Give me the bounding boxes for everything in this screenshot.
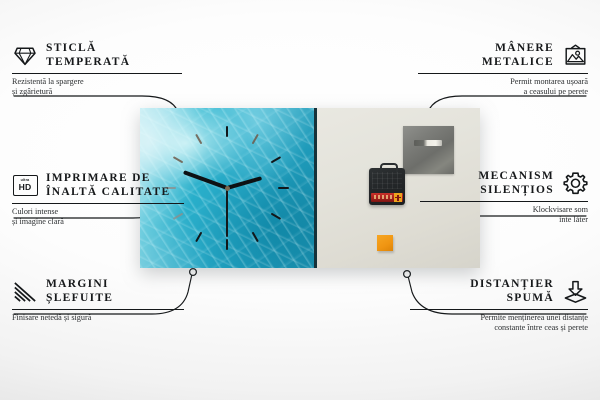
callout-handles: MÂNERE METALICE Permit montarea ușoară a… bbox=[418, 42, 588, 97]
hour-marker bbox=[226, 239, 228, 250]
hands-center-cap bbox=[225, 186, 230, 191]
callout-mechanism-subtitle: Klockvisare som inte låter bbox=[420, 205, 588, 225]
picture-hanger-icon bbox=[562, 43, 588, 69]
polished-edges-icon bbox=[12, 279, 38, 305]
minute-hand bbox=[183, 171, 227, 190]
callout-glass-head: STICLĂ TEMPERATĂ bbox=[12, 42, 182, 69]
foam-spacer-icon bbox=[562, 279, 588, 305]
aa-battery bbox=[371, 193, 403, 202]
hour-marker bbox=[252, 232, 259, 243]
hour-marker bbox=[252, 134, 259, 145]
ultra-hd-icon: ultra HD bbox=[12, 173, 38, 199]
hour-hand bbox=[226, 176, 262, 190]
infographic-canvas: STICLĂ TEMPERATĂ Rezistentă la spargere … bbox=[0, 0, 600, 400]
callout-edges: MARGINI ȘLEFUITE Finisare netedă și sigu… bbox=[12, 278, 184, 323]
callout-spacer-title: DISTANȚIER SPUMĂ bbox=[470, 278, 554, 305]
callout-glass: STICLĂ TEMPERATĂ Rezistentă la spargere … bbox=[12, 42, 182, 97]
battery-plus-terminal bbox=[394, 193, 402, 202]
second-hand bbox=[226, 187, 228, 237]
orange-foam-spacer bbox=[377, 235, 393, 251]
callout-print: ultra HD IMPRIMARE DE ÎNALTĂ CALITATE Cu… bbox=[12, 172, 184, 227]
ultra-hd-icon-large-text: HD bbox=[19, 183, 32, 192]
callout-print-rule bbox=[12, 203, 184, 204]
hour-marker bbox=[278, 187, 289, 189]
connector-dot-edges bbox=[190, 269, 197, 276]
callout-edges-head: MARGINI ȘLEFUITE bbox=[12, 278, 184, 305]
callout-mechanism-head: MECANISM SILENȚIOS bbox=[420, 170, 588, 197]
callout-handles-subtitle: Permit montarea ușoară a ceasului pe per… bbox=[418, 77, 588, 97]
callout-handles-title: MÂNERE METALICE bbox=[482, 42, 554, 69]
battery-label-stripes bbox=[374, 195, 394, 199]
callout-spacer-head: DISTANȚIER SPUMĂ bbox=[410, 278, 588, 305]
hour-marker bbox=[173, 156, 184, 163]
callout-print-subtitle: Culori intense și imagine clară bbox=[12, 207, 184, 227]
callout-spacer: DISTANȚIER SPUMĂ Permite menținerea unei… bbox=[410, 278, 588, 333]
callout-glass-title: STICLĂ TEMPERATĂ bbox=[46, 42, 130, 69]
connector-dot-spacer bbox=[404, 271, 411, 278]
hour-marker bbox=[271, 213, 282, 220]
diamond-icon bbox=[12, 43, 38, 69]
callout-handles-head: MÂNERE METALICE bbox=[418, 42, 588, 69]
hour-marker bbox=[195, 232, 202, 243]
callout-glass-rule bbox=[12, 73, 182, 74]
callout-edges-rule bbox=[12, 309, 184, 310]
hour-marker bbox=[226, 126, 228, 137]
callout-mechanism: MECANISM SILENȚIOS Klockvisare som inte … bbox=[420, 170, 588, 225]
hanger-slot bbox=[414, 140, 442, 146]
callout-print-title: IMPRIMARE DE ÎNALTĂ CALITATE bbox=[46, 172, 170, 199]
metal-hanger-bracket bbox=[403, 126, 454, 174]
callout-glass-subtitle: Rezistentă la spargere și zgârietură bbox=[12, 77, 182, 97]
mechanism-texture bbox=[372, 172, 402, 189]
callout-mechanism-rule bbox=[420, 201, 588, 202]
callout-spacer-rule bbox=[410, 309, 588, 310]
callout-handles-rule bbox=[418, 73, 588, 74]
callout-print-head: ultra HD IMPRIMARE DE ÎNALTĂ CALITATE bbox=[12, 172, 184, 199]
callout-mechanism-title: MECANISM SILENȚIOS bbox=[478, 170, 554, 197]
quartz-clock-mechanism bbox=[369, 168, 405, 205]
gear-icon bbox=[562, 171, 588, 197]
callout-edges-title: MARGINI ȘLEFUITE bbox=[46, 278, 113, 305]
hour-marker bbox=[195, 134, 202, 145]
callout-edges-subtitle: Finisare netedă și sigură bbox=[12, 313, 184, 323]
hour-marker bbox=[271, 156, 282, 163]
callout-spacer-subtitle: Permite menținerea unei distanțe constan… bbox=[410, 313, 588, 333]
